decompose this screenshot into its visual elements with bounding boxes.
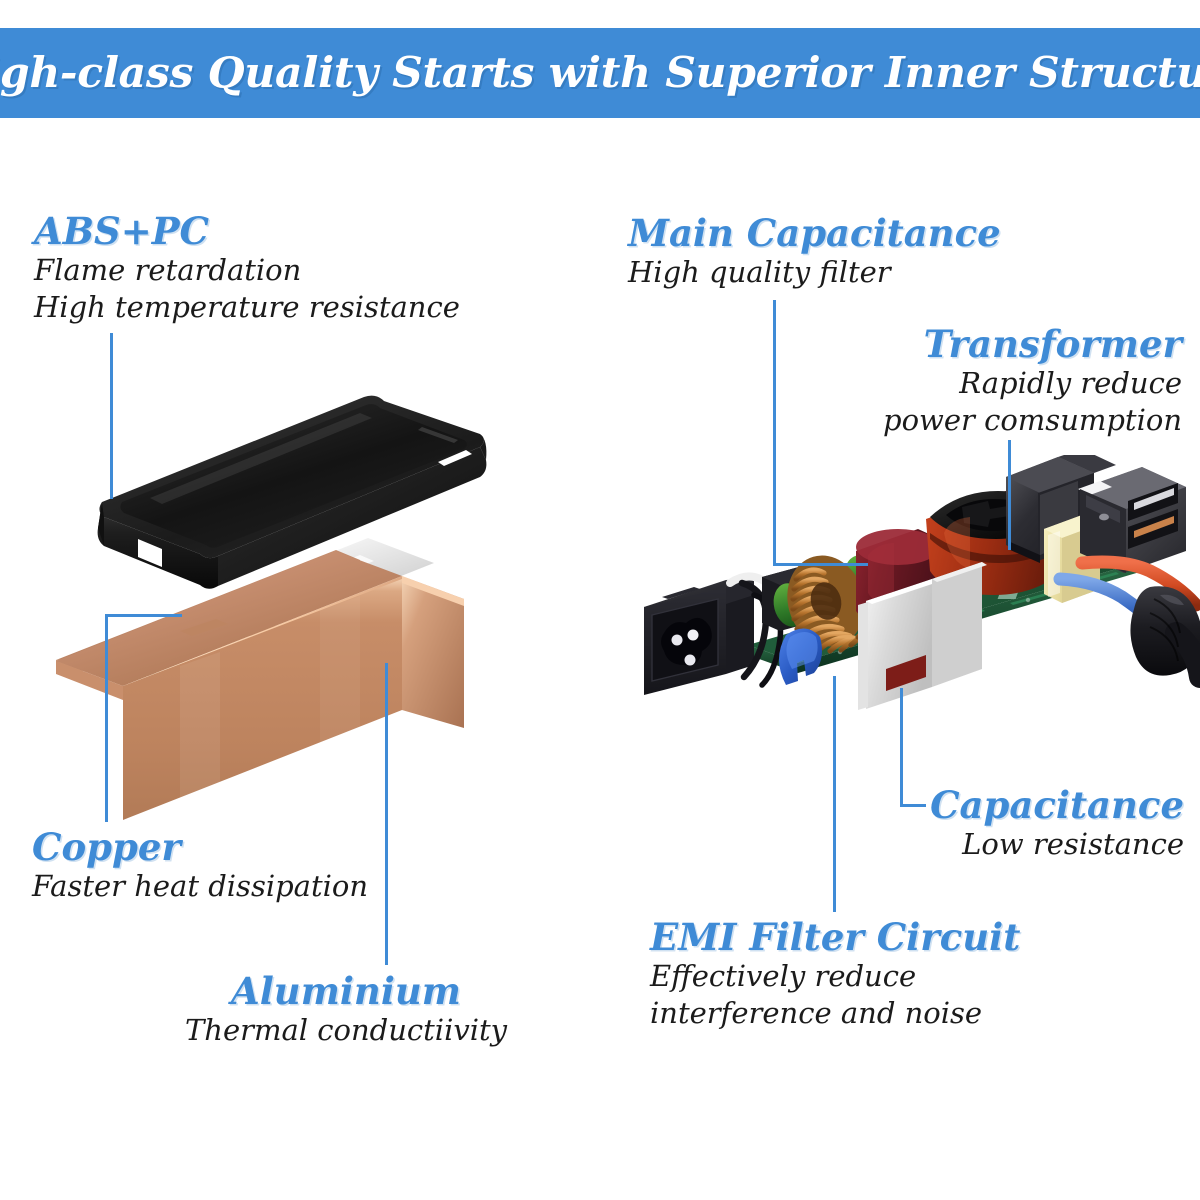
callout-emi-filter-title: EMI Filter Circuit — [650, 918, 1020, 957]
callout-capacitance-line-1: Low resistance — [836, 827, 1184, 862]
exploded-housing-illustration — [30, 380, 500, 850]
callout-abs-pc-title: ABS+PC — [34, 212, 460, 251]
callout-emi-filter-line-2: interference and noise — [650, 996, 1020, 1031]
callout-emi-filter: EMI Filter Circuit Effectively reduce in… — [650, 918, 1020, 1032]
leader-line-aluminium — [385, 663, 388, 965]
leader-line-abs-pc — [110, 333, 113, 499]
leader-line-transformer — [1008, 440, 1011, 550]
ac-inlet-socket — [644, 576, 780, 695]
callout-main-capacitance: Main Capacitance High quality filter — [628, 214, 1001, 290]
callout-copper-title: Copper — [32, 828, 368, 867]
poster-canvas: High-class Quality Starts with Superior … — [0, 0, 1200, 1200]
callout-abs-pc-line-1: Flame retardation — [34, 253, 460, 288]
leader-line-copper-vertical — [105, 614, 108, 822]
pcb-assembly-shape — [630, 455, 1200, 795]
callout-aluminium-line-1: Thermal conductiivity — [176, 1013, 516, 1048]
callout-capacitance-title: Capacitance — [836, 786, 1184, 825]
callout-transformer-line-2: power comsumption — [810, 403, 1182, 438]
callout-transformer-line-1: Rapidly reduce — [810, 366, 1182, 401]
callout-copper-line-1: Faster heat dissipation — [32, 869, 368, 904]
callout-abs-pc-line-2: High temperature resistance — [34, 290, 460, 325]
callout-abs-pc: ABS+PC Flame retardation High temperatur… — [34, 212, 460, 326]
callout-main-capacitance-line-1: High quality filter — [628, 255, 1001, 290]
leader-line-main-capacitance-vertical — [773, 300, 776, 565]
blue-film-capacitor — [779, 628, 822, 685]
leader-line-main-capacitance-horizontal — [773, 563, 868, 566]
copper-block-shape — [30, 380, 500, 850]
page-title: High-class Quality Starts with Superior … — [0, 48, 1200, 98]
callout-transformer-title: Transformer — [810, 325, 1182, 364]
callout-aluminium: Aluminium Thermal conductiivity — [176, 972, 516, 1048]
callout-transformer: Transformer Rapidly reduce power comsump… — [810, 325, 1182, 439]
callout-aluminium-title: Aluminium — [176, 972, 516, 1011]
callout-emi-filter-line-1: Effectively reduce — [650, 959, 1020, 994]
leader-line-copper-horizontal — [105, 614, 182, 617]
callout-capacitance: Capacitance Low resistance — [836, 786, 1184, 862]
dc-output-cable — [1060, 562, 1200, 677]
callout-main-capacitance-title: Main Capacitance — [628, 214, 1001, 253]
pcb-assembly-illustration — [630, 455, 1200, 795]
callout-copper: Copper Faster heat dissipation — [32, 828, 368, 904]
header-banner: High-class Quality Starts with Superior … — [0, 28, 1200, 118]
